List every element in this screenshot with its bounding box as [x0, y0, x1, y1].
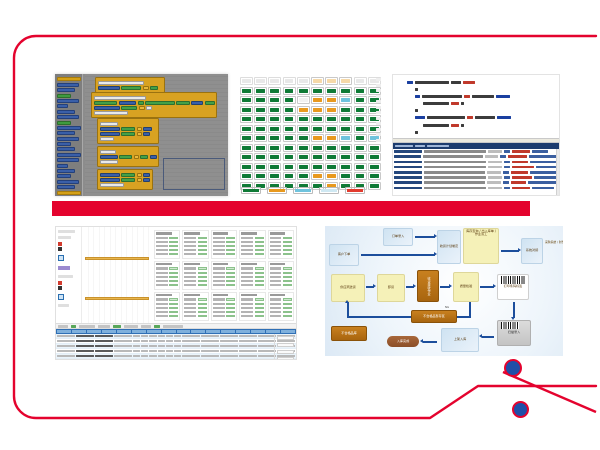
arrow-qc-to-barcode	[480, 286, 494, 288]
selection-outline	[163, 158, 225, 190]
status-cell[interactable]	[325, 106, 338, 114]
card-field-row	[213, 284, 235, 287]
log-segment	[485, 155, 498, 158]
status-cell[interactable]	[268, 96, 281, 104]
log-segment	[503, 171, 509, 174]
block-group[interactable]	[97, 118, 159, 144]
spreadsheet-screenshot[interactable]	[55, 226, 297, 360]
status-grid-screenshot[interactable]	[237, 74, 382, 198]
status-cell[interactable]	[268, 153, 281, 161]
blocks-palette[interactable]	[55, 74, 83, 196]
workflow-node-nonconform-store[interactable]: 不合格品库	[331, 326, 367, 341]
card-field-row	[213, 303, 235, 306]
status-cell[interactable]	[339, 125, 352, 133]
card-field-row	[270, 237, 292, 240]
status-cell[interactable]	[339, 163, 352, 171]
status-cell[interactable]	[325, 153, 338, 161]
status-cell[interactable]	[311, 144, 324, 152]
status-cell[interactable]	[354, 87, 367, 95]
status-cell[interactable]	[283, 134, 296, 142]
detail-card[interactable]	[154, 292, 180, 321]
table-cell	[114, 335, 132, 338]
workflow-node-erp-system[interactable]: 系统对接	[521, 238, 543, 264]
status-cell[interactable]	[354, 134, 367, 142]
legend-swatch	[295, 189, 310, 193]
card-field-label	[156, 311, 168, 314]
card-field-label	[184, 249, 196, 252]
log-row[interactable]	[394, 166, 558, 169]
table-cell	[95, 335, 113, 338]
code-token	[461, 102, 464, 105]
card-field-label	[213, 237, 225, 240]
log-row-list[interactable]	[393, 149, 559, 189]
card-field-row	[241, 272, 263, 275]
card-field-label	[213, 284, 225, 287]
code-token	[407, 81, 413, 84]
table-column-header[interactable]	[87, 330, 101, 333]
arrowhead-right-icon	[518, 248, 521, 252]
block-group[interactable]	[97, 146, 159, 167]
status-cell[interactable]	[283, 144, 296, 152]
table-column-header[interactable]	[266, 330, 280, 333]
card-field-label	[213, 253, 225, 256]
log-segment	[424, 166, 486, 169]
card-field-row	[241, 241, 263, 244]
card-field-value	[283, 298, 292, 301]
status-cell-bar	[256, 79, 265, 83]
status-cell[interactable]	[297, 153, 310, 161]
blocks-editor-screenshot[interactable]	[55, 74, 228, 196]
status-cell[interactable]	[268, 77, 281, 85]
workflow-node-sort-accept[interactable]: 收货接收作业	[417, 270, 439, 302]
workflow-node-supplier-delivery[interactable]: 供应商送货	[331, 274, 365, 302]
code-token	[415, 95, 420, 98]
status-cell[interactable]	[240, 115, 253, 123]
status-cell[interactable]	[354, 172, 367, 180]
red-divider-banner	[52, 201, 530, 216]
status-cell[interactable]	[240, 125, 253, 133]
log-segment	[424, 176, 486, 179]
status-cell[interactable]	[354, 77, 367, 85]
status-cell[interactable]	[325, 125, 338, 133]
status-cell[interactable]	[297, 115, 310, 123]
status-cell[interactable]	[368, 172, 381, 180]
status-cell[interactable]	[268, 134, 281, 142]
card-field-label	[184, 241, 196, 244]
table-cell	[182, 335, 200, 338]
status-cell[interactable]	[339, 115, 352, 123]
detail-card[interactable]	[182, 230, 208, 259]
detail-card[interactable]	[182, 292, 208, 321]
status-cell[interactable]	[325, 115, 338, 123]
card-field-row	[184, 303, 206, 306]
status-cell[interactable]	[268, 106, 281, 114]
status-cell[interactable]	[311, 96, 324, 104]
table-column-header[interactable]	[191, 330, 205, 333]
gantt-bar[interactable]	[85, 257, 149, 260]
status-cell[interactable]	[325, 96, 338, 104]
status-cell-grid[interactable]	[240, 77, 381, 190]
status-cell[interactable]	[254, 115, 267, 123]
status-cell[interactable]	[325, 77, 338, 85]
status-cell[interactable]	[240, 134, 253, 142]
detail-card[interactable]	[268, 230, 294, 259]
card-field-value	[226, 298, 235, 301]
card-field-label	[213, 315, 225, 318]
card-field-value	[198, 280, 207, 283]
status-cell[interactable]	[354, 115, 367, 123]
card-title	[156, 263, 172, 266]
log-segment	[504, 161, 510, 164]
blocks-workspace[interactable]	[85, 74, 228, 196]
status-cell[interactable]	[354, 153, 367, 161]
card-field-row	[213, 237, 235, 240]
card-field-row	[184, 253, 206, 256]
status-cell[interactable]	[354, 125, 367, 133]
status-cell[interactable]	[325, 163, 338, 171]
card-field-value	[255, 245, 264, 248]
code-token	[467, 116, 473, 119]
table-cell	[182, 340, 200, 343]
code-token	[423, 124, 449, 127]
log-row[interactable]	[394, 150, 558, 153]
status-cell[interactable]	[268, 144, 281, 152]
status-cell[interactable]	[283, 77, 296, 85]
workflow-diagram-screenshot[interactable]: 订单录入 客户下单 收货计划制定 库存查询 / 出入库单 / 作业派工 系统对接…	[325, 226, 563, 356]
card-field-label	[270, 303, 282, 306]
table-cell	[114, 355, 132, 358]
status-cell[interactable]	[283, 172, 296, 180]
status-cell[interactable]	[311, 77, 324, 85]
status-cell[interactable]	[325, 134, 338, 142]
workflow-node-quality-check[interactable]: 质量检验	[453, 272, 479, 302]
status-cell[interactable]	[311, 153, 324, 161]
detail-card[interactable]	[268, 261, 294, 290]
status-cell[interactable]	[240, 87, 253, 95]
card-field-label	[184, 307, 196, 310]
card-field-row	[213, 307, 235, 310]
table-column-header[interactable]	[102, 330, 116, 333]
status-cell[interactable]	[368, 182, 381, 190]
log-console-panel[interactable]	[393, 138, 559, 195]
status-cell-bar	[242, 146, 251, 150]
log-segment	[512, 176, 532, 179]
status-cell[interactable]	[283, 87, 296, 95]
status-cell[interactable]	[297, 172, 310, 180]
status-cell[interactable]	[297, 163, 310, 171]
card-field-label	[241, 245, 253, 248]
table-column-header[interactable]	[251, 330, 265, 333]
status-cell[interactable]	[268, 87, 281, 95]
table-body[interactable]	[56, 334, 296, 360]
log-segment	[512, 166, 534, 169]
log-segment	[394, 155, 421, 158]
status-cell[interactable]	[283, 96, 296, 104]
status-cell[interactable]	[254, 96, 267, 104]
status-cell-bar	[270, 117, 279, 121]
status-cell[interactable]	[297, 125, 310, 133]
workflow-node-customer[interactable]: 客户下单	[329, 244, 359, 266]
card-field-value	[283, 315, 292, 318]
status-cell[interactable]	[311, 134, 324, 142]
card-field-label	[270, 267, 282, 270]
code-token	[451, 81, 461, 84]
table-side-buttons[interactable]	[274, 334, 296, 359]
status-cell[interactable]	[354, 144, 367, 152]
card-field-row	[213, 276, 235, 279]
workflow-node-plan-notes[interactable]: 库存查询 / 出入库单 / 作业派工	[463, 228, 499, 264]
table-cell	[149, 345, 156, 348]
status-cell[interactable]	[240, 163, 253, 171]
status-cell[interactable]	[240, 153, 253, 161]
status-cell[interactable]	[254, 106, 267, 114]
block-group[interactable]	[91, 92, 217, 118]
table-cell	[76, 345, 94, 348]
card-field-label	[270, 280, 282, 283]
workflow-node-order-entry[interactable]: 订单录入	[383, 228, 413, 246]
status-cell[interactable]	[339, 87, 352, 95]
table-column-header[interactable]	[117, 330, 131, 333]
card-title	[270, 263, 286, 266]
log-row[interactable]	[394, 160, 558, 163]
table-column-header[interactable]	[72, 330, 86, 333]
detail-card[interactable]	[239, 261, 265, 290]
status-cell[interactable]	[354, 96, 367, 104]
log-scrollbar[interactable]	[556, 149, 559, 195]
log-row[interactable]	[394, 171, 558, 174]
card-field-row	[270, 315, 292, 318]
status-cell-bar	[313, 127, 322, 131]
card-field-value	[255, 311, 264, 314]
workflow-node-inbound-complete[interactable]: 入库完成	[387, 336, 419, 347]
table-cell	[141, 350, 148, 353]
table-column-header[interactable]	[147, 330, 161, 333]
status-cell[interactable]	[311, 125, 324, 133]
status-cell-bar	[327, 127, 336, 131]
status-cell[interactable]	[283, 125, 296, 133]
card-field-row	[270, 284, 292, 287]
sheet-detail-cards[interactable]	[152, 227, 296, 323]
code-editor-screenshot[interactable]	[392, 74, 560, 196]
log-segment	[394, 187, 422, 190]
status-cell[interactable]	[254, 77, 267, 85]
block-group[interactable]	[97, 169, 153, 190]
card-field-row	[241, 249, 263, 252]
status-cell[interactable]	[354, 106, 367, 114]
gantt-grid[interactable]	[83, 227, 151, 323]
status-cell[interactable]	[283, 106, 296, 114]
status-cell[interactable]	[254, 134, 267, 142]
log-row[interactable]	[394, 155, 558, 158]
table-column-header[interactable]	[281, 330, 295, 333]
status-cell[interactable]	[254, 87, 267, 95]
status-cell[interactable]	[311, 87, 324, 95]
table-cell	[201, 345, 219, 348]
card-field-value	[198, 249, 207, 252]
sheet-row-headers[interactable]	[56, 227, 82, 323]
detail-card[interactable]	[154, 261, 180, 290]
status-cell[interactable]	[297, 144, 310, 152]
detail-card[interactable]	[182, 261, 208, 290]
status-cell[interactable]	[254, 163, 267, 171]
table-cell	[114, 340, 132, 343]
status-cell[interactable]	[368, 163, 381, 171]
detail-card[interactable]	[211, 261, 237, 290]
status-cell[interactable]	[339, 77, 352, 85]
status-cell[interactable]	[339, 106, 352, 114]
card-field-value	[255, 249, 264, 252]
card-field-label	[213, 303, 225, 306]
status-cell[interactable]	[354, 163, 367, 171]
status-cell-bar	[327, 79, 336, 83]
table-cell	[95, 355, 113, 358]
card-field-row	[213, 253, 235, 256]
log-segment	[511, 181, 527, 184]
status-cell[interactable]	[240, 172, 253, 180]
status-cell[interactable]	[254, 153, 267, 161]
table-row[interactable]	[56, 359, 296, 360]
status-cell[interactable]	[311, 106, 324, 114]
status-cell-bar	[285, 174, 294, 178]
data-table[interactable]	[56, 323, 296, 359]
status-cell-bar	[270, 89, 279, 93]
workflow-node-unload[interactable]: 卸货	[377, 274, 405, 302]
card-field-row	[184, 280, 206, 283]
status-cell[interactable]	[283, 163, 296, 171]
status-cell[interactable]	[268, 163, 281, 171]
card-field-label	[241, 267, 253, 270]
status-cell[interactable]	[311, 163, 324, 171]
card-field-label	[241, 315, 253, 318]
status-cell[interactable]	[339, 172, 352, 180]
table-column-header[interactable]	[177, 330, 191, 333]
status-cell[interactable]	[339, 134, 352, 142]
detail-card[interactable]	[211, 292, 237, 321]
status-cell-bar	[356, 117, 365, 121]
status-cell[interactable]	[311, 115, 324, 123]
status-cell[interactable]	[240, 106, 253, 114]
card-field-row	[156, 267, 178, 270]
status-cell[interactable]	[283, 115, 296, 123]
table-cell	[166, 350, 173, 353]
log-row[interactable]	[394, 186, 558, 189]
table-column-header[interactable]	[206, 330, 220, 333]
status-cell[interactable]	[240, 144, 253, 152]
card-field-row	[184, 267, 206, 270]
status-cell[interactable]	[240, 96, 253, 104]
status-cell[interactable]	[254, 172, 267, 180]
card-field-value	[283, 307, 292, 310]
table-cell	[57, 345, 75, 348]
status-cell[interactable]	[325, 87, 338, 95]
status-cell[interactable]	[268, 172, 281, 180]
legend-item-cyan	[293, 187, 313, 194]
status-cell[interactable]	[311, 172, 324, 180]
status-cell[interactable]	[254, 125, 267, 133]
status-cell[interactable]	[368, 144, 381, 152]
table-column-header[interactable]	[236, 330, 250, 333]
code-token	[415, 131, 418, 134]
status-cell[interactable]	[254, 144, 267, 152]
status-cell-bar	[356, 127, 365, 131]
card-field-row	[184, 284, 206, 287]
code-line	[423, 123, 555, 127]
status-cell[interactable]	[339, 96, 352, 104]
status-cell[interactable]	[268, 115, 281, 123]
detail-card[interactable]	[154, 230, 180, 259]
workflow-node-putaway[interactable]: 上架入库	[441, 328, 479, 352]
detail-card[interactable]	[239, 230, 265, 259]
table-column-header[interactable]	[162, 330, 176, 333]
table-cell	[174, 340, 181, 343]
status-cell[interactable]	[297, 134, 310, 142]
table-column-header[interactable]	[132, 330, 146, 333]
status-cell[interactable]	[325, 172, 338, 180]
status-cell[interactable]	[283, 153, 296, 161]
detail-card[interactable]	[211, 230, 237, 259]
log-segment	[532, 187, 554, 190]
status-cell[interactable]	[325, 144, 338, 152]
arrowhead-left-icon	[479, 334, 482, 338]
gantt-bar[interactable]	[85, 297, 149, 300]
table-column-header[interactable]	[57, 330, 71, 333]
card-field-label	[213, 298, 225, 301]
detail-card[interactable]	[239, 292, 265, 321]
status-cell[interactable]	[297, 106, 310, 114]
status-cell-bar	[327, 136, 336, 140]
card-field-label	[156, 303, 168, 306]
table-cell	[220, 335, 238, 338]
table-cell	[141, 335, 148, 338]
card-field-label	[241, 303, 253, 306]
status-cell[interactable]	[268, 125, 281, 133]
status-cell[interactable]	[297, 77, 310, 85]
card-field-row	[156, 315, 178, 318]
status-cell-bar	[299, 127, 308, 131]
status-cell-bar	[313, 174, 322, 178]
code-token	[472, 95, 494, 98]
workflow-node-nonconform-area[interactable]: 不合格品暂存区	[411, 310, 457, 323]
card-field-label	[270, 237, 282, 240]
card-field-label	[270, 311, 282, 314]
status-cell[interactable]	[297, 87, 310, 95]
status-cell[interactable]	[339, 153, 352, 161]
detail-card[interactable]	[268, 292, 294, 321]
status-cell-bar	[313, 79, 322, 83]
arrowhead-right-icon	[434, 234, 437, 238]
status-cell-bar	[299, 98, 308, 102]
card-field-value	[226, 311, 235, 314]
log-segment	[394, 161, 422, 164]
card-field-label	[156, 280, 168, 283]
status-cell[interactable]	[240, 77, 253, 85]
block-group[interactable]	[95, 77, 165, 93]
status-cell-bar	[256, 146, 265, 150]
log-row[interactable]	[394, 176, 558, 179]
status-cell[interactable]	[368, 153, 381, 161]
table-column-header[interactable]	[221, 330, 235, 333]
card-field-label	[270, 298, 282, 301]
card-field-row	[156, 307, 178, 310]
status-cell[interactable]	[339, 144, 352, 152]
workflow-node-receiving-plan[interactable]: 收货计划制定	[437, 230, 461, 264]
status-cell-bar	[256, 174, 265, 178]
card-field-value	[255, 303, 264, 306]
status-cell[interactable]	[297, 96, 310, 104]
log-row[interactable]	[394, 181, 558, 184]
code-text-area[interactable]	[393, 75, 559, 138]
card-field-label	[270, 253, 282, 256]
